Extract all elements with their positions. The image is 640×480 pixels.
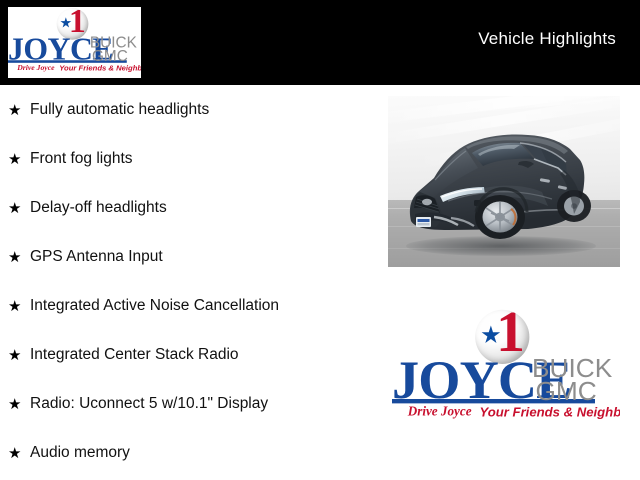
star-bullet-icon: ★ <box>8 397 30 412</box>
logo-tagline-left: Drive Joyce <box>17 64 54 73</box>
star-bullet-icon: ★ <box>8 348 30 363</box>
joyce-logo-mark: 1 JOYCE BUICK GMC Drive Joyce Your Frien… <box>8 7 141 78</box>
list-item: ★ Delay-off headlights <box>8 197 167 219</box>
list-item-label: Integrated Active Noise Cancellation <box>30 298 279 314</box>
logo-tagline-right: Your Friends & Neighbors Do! <box>480 405 621 420</box>
list-item-label: Radio: Uconnect 5 w/10.1" Display <box>30 396 268 412</box>
star-bullet-icon: ★ <box>8 299 30 314</box>
list-item-label: Integrated Center Stack Radio <box>30 347 239 363</box>
minivan-illustration <box>388 96 620 267</box>
list-item-label: Audio memory <box>30 445 130 461</box>
star-bullet-icon: ★ <box>8 201 30 216</box>
star-bullet-icon: ★ <box>8 152 30 167</box>
list-item: ★ Radio: Uconnect 5 w/10.1" Display <box>8 393 268 415</box>
star-bullet-icon: ★ <box>8 103 30 118</box>
list-item-label: GPS Antenna Input <box>30 249 163 265</box>
page-title: Vehicle Highlights <box>478 29 616 49</box>
vehicle-highlights-list: ★ Fully automatic headlights ★ Front fog… <box>0 85 370 480</box>
list-item: ★ Audio memory <box>8 442 130 464</box>
logo-make-gmc: GMC <box>92 49 128 64</box>
star-bullet-icon: ★ <box>8 250 30 265</box>
list-item-label: Delay-off headlights <box>30 200 167 216</box>
list-item: ★ Fully automatic headlights <box>8 99 209 121</box>
vehicle-photo[interactable] <box>388 96 620 267</box>
list-item: ★ Integrated Active Noise Cancellation <box>8 295 279 317</box>
list-item: ★ Integrated Center Stack Radio <box>8 344 239 366</box>
joyce-logo-mark: 1 JOYCE BUICK GMC Drive Joyce Your Frien… <box>392 308 620 429</box>
list-item-label: Fully automatic headlights <box>30 102 209 118</box>
footer-brand-logo[interactable]: 1 JOYCE BUICK GMC Drive Joyce Your Frien… <box>392 308 620 430</box>
logo-tagline-left: Drive Joyce <box>408 405 472 420</box>
star-bullet-icon: ★ <box>8 446 30 461</box>
list-item-label: Front fog lights <box>30 151 133 167</box>
logo-make-gmc: GMC <box>536 380 597 405</box>
page-header: 1 JOYCE BUICK GMC Drive Joyce Your Frien… <box>0 0 640 85</box>
list-item: ★ GPS Antenna Input <box>8 246 163 268</box>
logo-tagline-right: Your Friends & Neighbors Do! <box>59 64 141 73</box>
list-item: ★ Front fog lights <box>8 148 133 170</box>
header-brand-logo[interactable]: 1 JOYCE BUICK GMC Drive Joyce Your Frien… <box>8 7 141 78</box>
